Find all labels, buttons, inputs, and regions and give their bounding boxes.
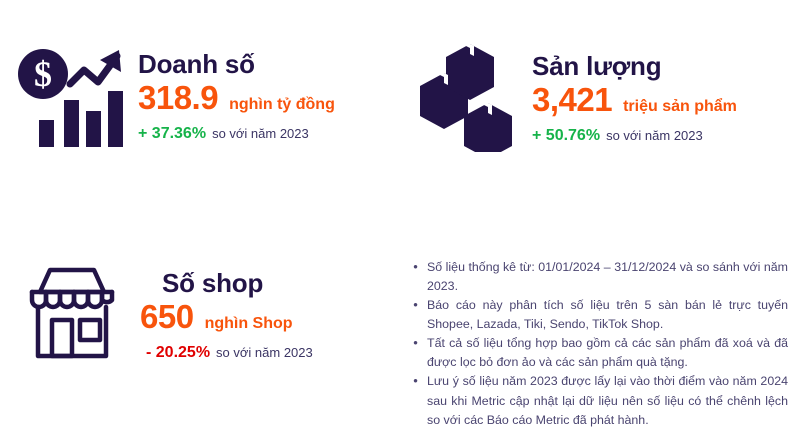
stat-card-shops: Số shop 650 nghìn Shop - 20.25% so với n… <box>22 262 313 369</box>
stat-delta-row: + 37.36% so với năm 2023 <box>138 125 335 143</box>
stat-value-row: 650 nghìn Shop <box>140 299 313 335</box>
stat-value: 3,421 <box>532 82 612 118</box>
stat-compare-label: so với năm 2023 <box>606 129 703 143</box>
stat-unit: nghìn tỷ đồng <box>229 96 335 114</box>
stat-card-shops-text: Số shop 650 nghìn Shop - 20.25% so với n… <box>140 269 313 362</box>
stat-compare-label: so với năm 2023 <box>212 127 309 141</box>
storefront-icon <box>22 262 122 369</box>
bullet-icon: • <box>404 372 427 391</box>
bullet-icon: • <box>404 296 427 315</box>
stat-delta: + 50.76% <box>532 127 600 145</box>
infographic-canvas: $ Doanh số 318.9 nghìn tỷ đồng + 37.36% … <box>0 0 796 401</box>
bullet-icon: • <box>404 258 427 277</box>
stat-card-volume: Sản lượng 3,421 triệu sản phẩm + 50.76% … <box>418 40 737 157</box>
stat-title: Số shop <box>140 269 313 297</box>
stat-card-volume-text: Sản lượng 3,421 triệu sản phẩm + 50.76% … <box>532 52 737 145</box>
stat-card-revenue: $ Doanh số 318.9 nghìn tỷ đồng + 37.36% … <box>14 40 335 153</box>
stat-delta-row: - 20.25% so với năm 2023 <box>140 344 313 362</box>
svg-text:$: $ <box>34 54 52 94</box>
stat-delta: - 20.25% <box>146 344 210 362</box>
boxes-stack-icon <box>418 40 516 157</box>
stat-title: Doanh số <box>138 50 335 78</box>
stat-value: 650 <box>140 299 194 335</box>
revenue-growth-chart-icon: $ <box>14 40 124 153</box>
list-item: • Số liệu thống kê từ: 01/01/2024 – 31/1… <box>404 258 788 295</box>
list-item: • Báo cáo này phân tích số liệu trên 5 s… <box>404 296 788 333</box>
stat-unit: nghìn Shop <box>205 315 293 333</box>
footnote-text: Tất cả số liệu tổng hợp bao gồm cả các s… <box>427 334 788 371</box>
stat-value-row: 318.9 nghìn tỷ đồng <box>138 80 335 116</box>
stat-unit: triệu sản phẩm <box>623 98 737 116</box>
list-item: • Tất cả số liệu tổng hợp bao gồm cả các… <box>404 334 788 371</box>
footnote-text: Báo cáo này phân tích số liệu trên 5 sàn… <box>427 296 788 333</box>
stat-delta-row: + 50.76% so với năm 2023 <box>532 127 737 145</box>
stat-value-row: 3,421 triệu sản phẩm <box>532 82 737 118</box>
stat-value: 318.9 <box>138 80 218 116</box>
bullet-icon: • <box>404 334 427 353</box>
list-item: • Lưu ý số liệu năm 2023 được lấy lại và… <box>404 372 788 431</box>
stat-compare-label: so với năm 2023 <box>216 346 313 360</box>
stat-title: Sản lượng <box>532 52 737 80</box>
footnotes-list: • Số liệu thống kê từ: 01/01/2024 – 31/1… <box>404 258 788 432</box>
stat-card-revenue-text: Doanh số 318.9 nghìn tỷ đồng + 37.36% so… <box>138 50 335 143</box>
footnote-text: Lưu ý số liệu năm 2023 được lấy lại vào … <box>427 372 788 431</box>
stat-delta: + 37.36% <box>138 125 206 143</box>
footnote-text: Số liệu thống kê từ: 01/01/2024 – 31/12/… <box>427 258 788 295</box>
